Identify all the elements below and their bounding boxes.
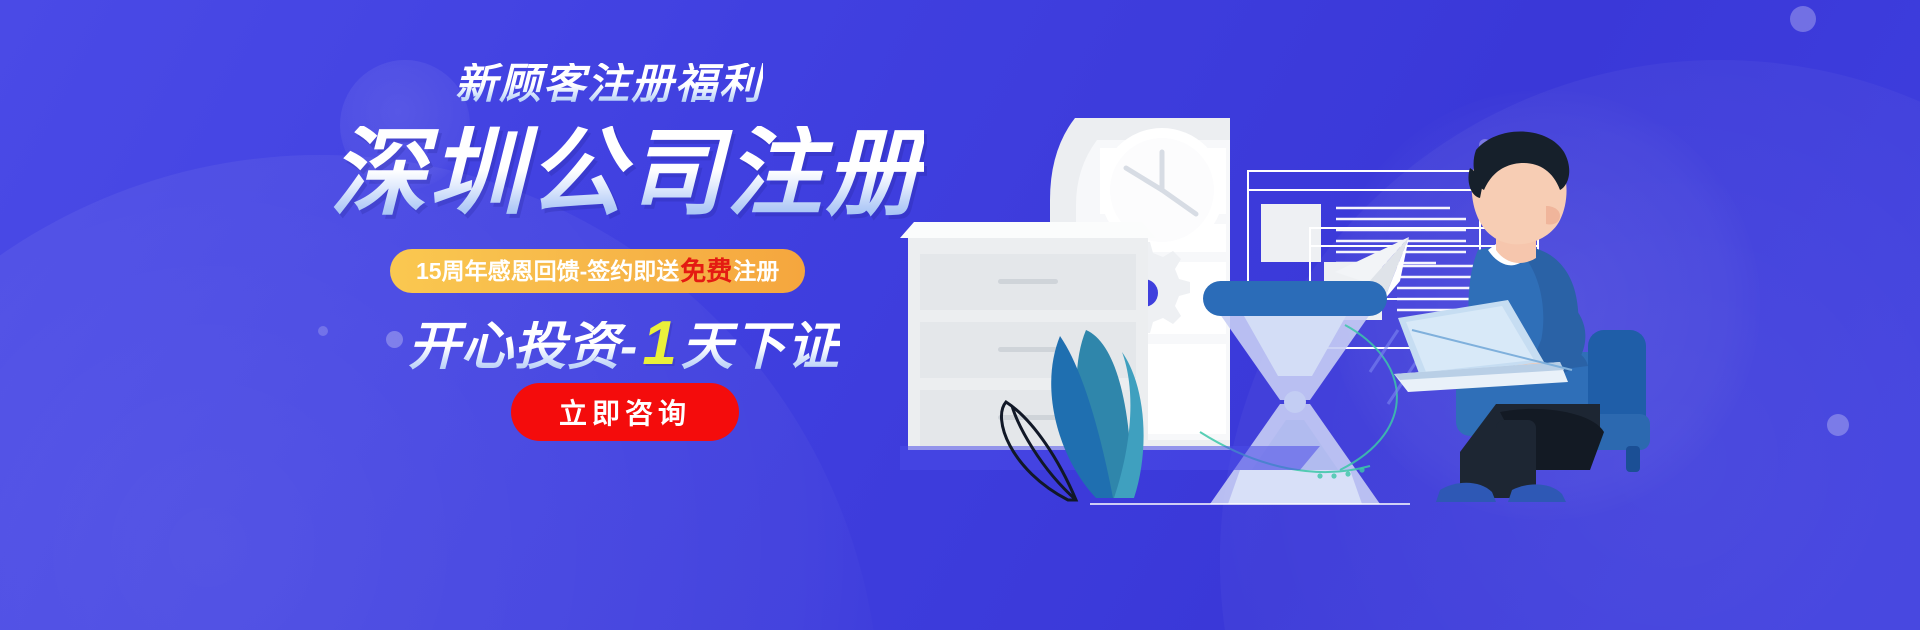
person-with-laptop	[1394, 131, 1604, 502]
promo-banner: 新顾客注册福利 深圳公司注册 15周年感恩回馈-签约即送 免费 注册 开心投资-…	[0, 0, 1920, 630]
banner-copy: 新顾客注册福利 深圳公司注册 15周年感恩回馈-签约即送 免费 注册 开心投资-…	[0, 0, 980, 630]
promo-highlight: 免费	[679, 258, 733, 284]
promo-prefix: 15周年感恩回馈-签约即送	[416, 260, 679, 283]
subhead-left: 开心投资-	[408, 321, 638, 373]
banner-eyebrow: 新顾客注册福利	[455, 63, 763, 105]
subhead-right: 天下证	[681, 321, 840, 373]
banner-title: 深圳公司注册	[330, 126, 924, 222]
consult-now-button[interactable]: 立即咨询	[511, 383, 739, 441]
hero-illustration	[900, 0, 1920, 630]
document-card-thumb	[1261, 204, 1321, 262]
subhead-number: 1	[638, 313, 680, 375]
promo-suffix: 注册	[733, 260, 779, 283]
promo-badge: 15周年感恩回馈-签约即送 免费 注册	[390, 249, 805, 293]
banner-subhead: 开心投资- 1 天下证	[408, 313, 840, 375]
